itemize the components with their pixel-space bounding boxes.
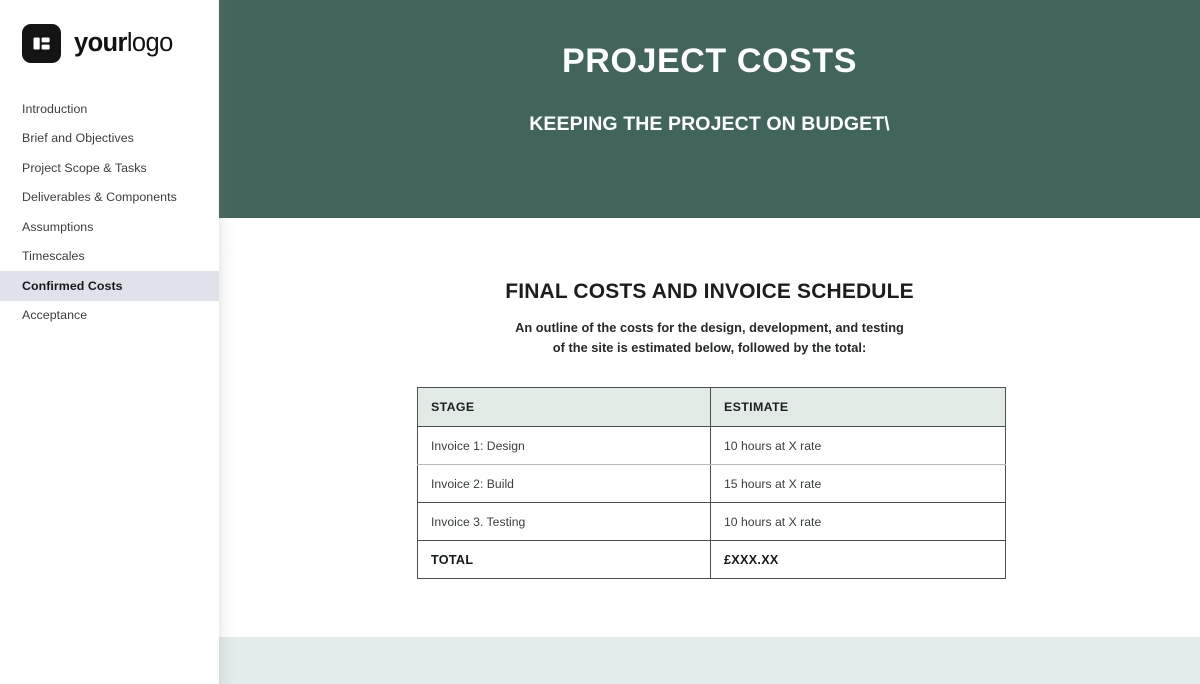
table-row: Invoice 1: Design 10 hours at X rate bbox=[418, 427, 1006, 465]
sidebar-item-label: Assumptions bbox=[22, 220, 93, 234]
cell-estimate-total: £XXX.XX bbox=[711, 541, 1006, 579]
sidebar-item-label: Introduction bbox=[22, 102, 87, 116]
cell-estimate: 15 hours at X rate bbox=[711, 465, 1006, 503]
cell-estimate: 10 hours at X rate bbox=[711, 427, 1006, 465]
sidebar-item-assumptions[interactable]: Assumptions bbox=[0, 212, 219, 242]
page-subtitle: KEEPING THE PROJECT ON BUDGET\ bbox=[219, 113, 1200, 136]
sidebar-item-label: Confirmed Costs bbox=[22, 279, 123, 293]
layout-dashboard-icon bbox=[22, 24, 61, 63]
section-intro: An outline of the costs for the design, … bbox=[219, 318, 1200, 358]
sidebar-item-acceptance[interactable]: Acceptance bbox=[0, 301, 219, 331]
section-intro-line-1: An outline of the costs for the design, … bbox=[515, 320, 904, 335]
brand-word-light: logo bbox=[127, 29, 173, 57]
sidebar-item-brief-and-objectives[interactable]: Brief and Objectives bbox=[0, 124, 219, 154]
table-row: Invoice 3. Testing 10 hours at X rate bbox=[418, 503, 1006, 541]
column-header-estimate: ESTIMATE bbox=[711, 388, 1006, 427]
sidebar-item-timescales[interactable]: Timescales bbox=[0, 242, 219, 272]
cell-estimate: 10 hours at X rate bbox=[711, 503, 1006, 541]
cost-schedule-table: STAGE ESTIMATE Invoice 1: Design 10 hour… bbox=[417, 387, 1006, 579]
section-intro-line-2: of the site is estimated below, followed… bbox=[553, 340, 866, 355]
brand-logo[interactable]: yourlogo bbox=[22, 24, 173, 63]
section-title: FINAL COSTS AND INVOICE SCHEDULE bbox=[219, 280, 1200, 304]
sidebar: yourlogo Introduction Brief and Objectiv… bbox=[0, 0, 219, 684]
sidebar-item-label: Project Scope & Tasks bbox=[22, 161, 147, 175]
slide-root: yourlogo Introduction Brief and Objectiv… bbox=[0, 0, 1200, 684]
table-head: STAGE ESTIMATE bbox=[418, 388, 1006, 427]
cell-stage: Invoice 1: Design bbox=[418, 427, 711, 465]
sidebar-item-project-scope-and-tasks[interactable]: Project Scope & Tasks bbox=[0, 153, 219, 183]
column-header-stage: STAGE bbox=[418, 388, 711, 427]
sidebar-item-confirmed-costs[interactable]: Confirmed Costs bbox=[0, 271, 219, 301]
table-row: Invoice 2: Build 15 hours at X rate bbox=[418, 465, 1006, 503]
sidebar-item-label: Brief and Objectives bbox=[22, 131, 134, 145]
table-body: Invoice 1: Design 10 hours at X rate Inv… bbox=[418, 427, 1006, 579]
brand-word-bold: your bbox=[74, 29, 127, 57]
table-row-total: TOTAL £XXX.XX bbox=[418, 541, 1006, 579]
cell-stage: Invoice 2: Build bbox=[418, 465, 711, 503]
main-content: FINAL COSTS AND INVOICE SCHEDULE An outl… bbox=[219, 218, 1200, 637]
cell-stage-total: TOTAL bbox=[418, 541, 711, 579]
sidebar-item-label: Timescales bbox=[22, 249, 85, 263]
sidebar-item-introduction[interactable]: Introduction bbox=[0, 94, 219, 124]
table-header-row: STAGE ESTIMATE bbox=[418, 388, 1006, 427]
cell-stage: Invoice 3. Testing bbox=[418, 503, 711, 541]
brand-wordmark: yourlogo bbox=[74, 31, 173, 57]
sidebar-nav: Introduction Brief and Objectives Projec… bbox=[0, 94, 219, 330]
sidebar-item-label: Deliverables & Components bbox=[22, 190, 177, 204]
page-header-banner: PROJECT COSTS KEEPING THE PROJECT ON BUD… bbox=[219, 0, 1200, 218]
sidebar-item-label: Acceptance bbox=[22, 308, 87, 322]
footer-band bbox=[219, 637, 1200, 684]
page-title: PROJECT COSTS bbox=[219, 42, 1200, 81]
sidebar-item-deliverables-and-components[interactable]: Deliverables & Components bbox=[0, 183, 219, 213]
